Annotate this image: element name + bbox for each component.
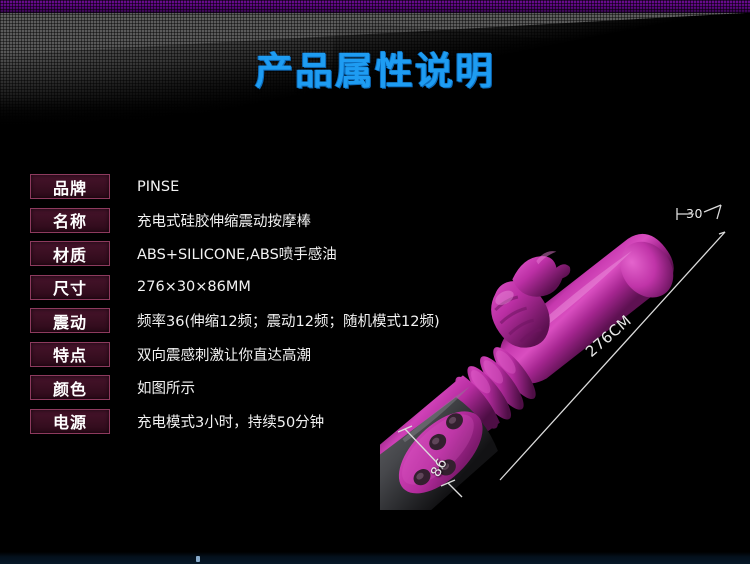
header-banner: 产品属性说明 [0, 0, 750, 132]
spec-value-color: 如图所示 [137, 377, 195, 398]
spec-label-power: 电源 [30, 409, 110, 434]
spec-value-name: 充电式硅胶伸缩震动按摩棒 [137, 210, 311, 231]
spec-label-brand: 品牌 [30, 174, 110, 199]
page-title: 产品属性说明 [0, 40, 750, 95]
bottom-strip [0, 552, 750, 564]
spec-value-brand: PINSE [137, 179, 179, 195]
dimension-label-width: 30 [686, 206, 703, 221]
purple-accent-strip [0, 0, 750, 13]
header-fade [0, 98, 750, 132]
spec-label-vibration: 震动 [30, 308, 110, 333]
spec-label-features: 特点 [30, 342, 110, 367]
spec-value-material: ABS+SILICONE,ABS喷手感油 [137, 243, 337, 264]
spec-value-power: 充电模式3小时，持续50分钟 [137, 411, 324, 432]
spec-label-color: 颜色 [30, 375, 110, 400]
spec-label-material: 材质 [30, 241, 110, 266]
spec-value-size: 276×30×86MM [137, 279, 251, 295]
spec-label-size: 尺寸 [30, 275, 110, 300]
bottom-speck [196, 556, 200, 562]
spec-label-name: 名称 [30, 208, 110, 233]
spec-value-features: 双向震感刺激让你直达高潮 [137, 344, 311, 365]
